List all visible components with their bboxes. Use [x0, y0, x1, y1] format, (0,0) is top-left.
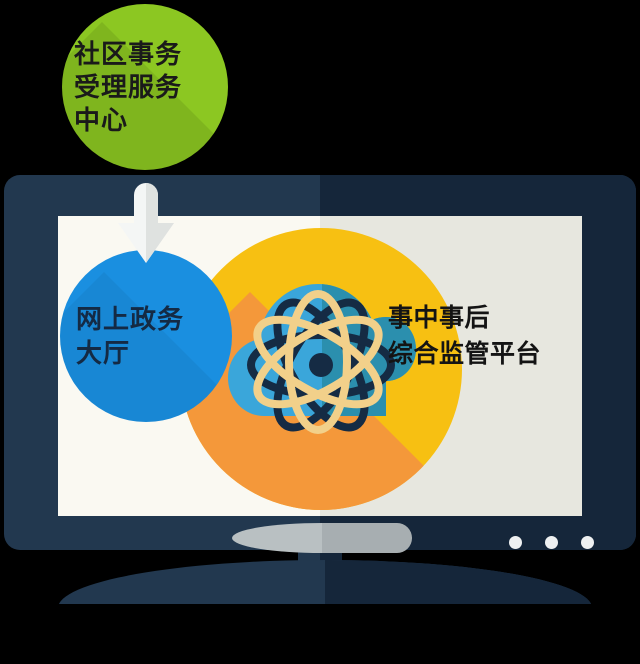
illustration-canvas: 网上政务 大厅 事中事后 综合监管平台 社区事务 受理服务 中心	[0, 0, 640, 664]
blue-badge-line-2: 大厅	[76, 336, 232, 370]
monitor-neck-plate-shadow	[322, 523, 412, 553]
indicator-dot-2	[545, 536, 558, 549]
community-affairs-center-label: 社区事务 受理服务 中心	[62, 4, 228, 170]
green-badge-line-3: 中心	[74, 104, 228, 137]
indicator-dot-3	[581, 536, 594, 549]
arrow-head-shade	[146, 223, 174, 263]
blue-badge-line-1: 网上政务	[76, 302, 232, 336]
right-label-line-1: 事中事后	[388, 300, 588, 336]
arrow-shaft-shade	[146, 183, 158, 227]
down-arrow-icon	[118, 183, 174, 263]
indicator-dot-1	[509, 536, 522, 549]
right-label-line-2: 综合监管平台	[388, 336, 588, 372]
online-government-hall-label: 网上政务 大厅	[60, 250, 232, 422]
monitor-indicator-dots	[505, 536, 601, 550]
green-badge-line-2: 受理服务	[74, 71, 228, 104]
atom-nucleus	[309, 353, 333, 377]
green-badge-line-1: 社区事务	[74, 38, 228, 71]
atom-icon	[242, 286, 400, 444]
base-clip-mask	[40, 604, 610, 664]
supervision-platform-label: 事中事后 综合监管平台	[388, 300, 588, 372]
